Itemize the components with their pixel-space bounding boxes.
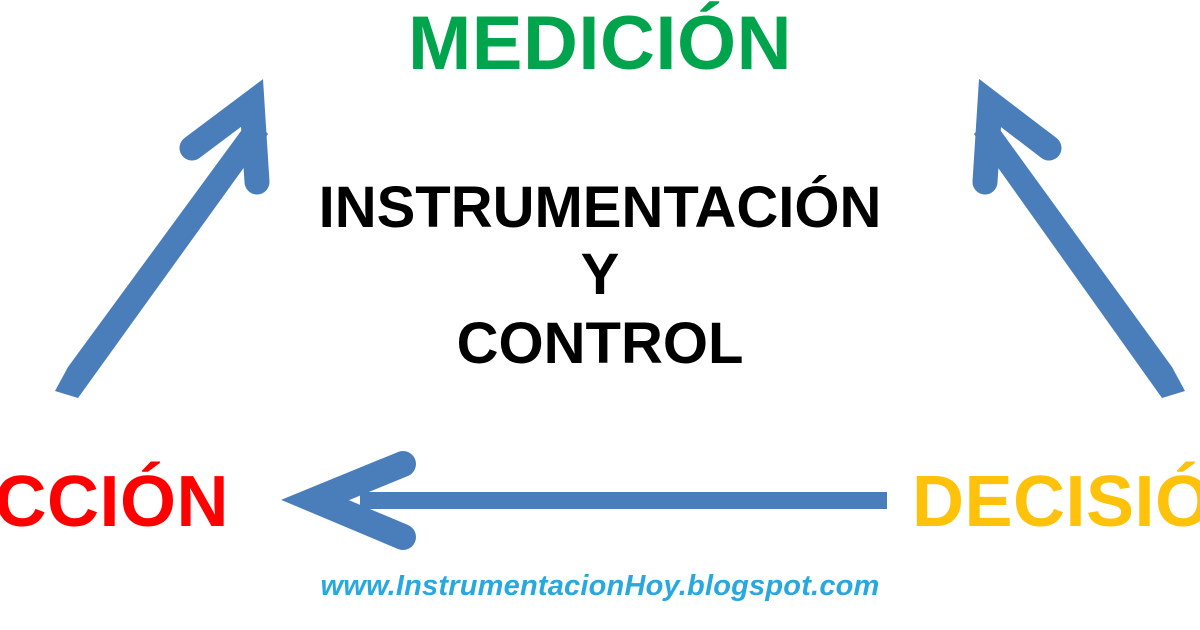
- node-label-accion: ACCIÓN: [0, 466, 229, 538]
- center-title-line-1: INSTRUMENTACIÓN: [0, 178, 1200, 237]
- node-label-decision: DECISIÓN: [912, 466, 1200, 538]
- center-title-block: INSTRUMENTACIÓN Y CONTROL: [0, 178, 1200, 373]
- center-title-line-3: CONTROL: [0, 314, 1200, 373]
- center-title-line-2: Y: [0, 245, 1200, 304]
- diagram-canvas: MEDICIÓN ACCIÓN DECISIÓN INSTRUMENTACIÓN…: [0, 0, 1200, 630]
- arrow-decision-to-accion-icon: [315, 464, 887, 537]
- footer-url[interactable]: www.InstrumentacionHoy.blogspot.com: [0, 570, 1200, 603]
- node-label-medicion: MEDICIÓN: [0, 6, 1200, 82]
